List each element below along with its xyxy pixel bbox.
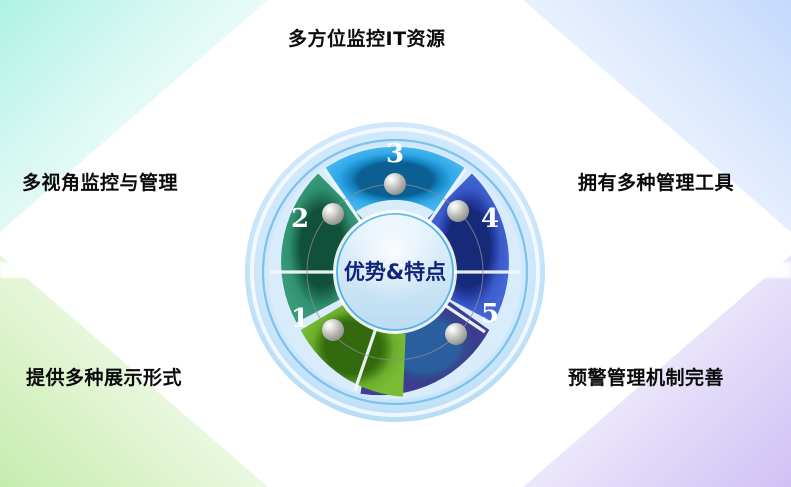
label-left-top: 多视角监控与管理 <box>22 168 178 195</box>
marker-ball-4[interactable] <box>447 200 469 222</box>
segment-number-5: 5 <box>481 299 499 329</box>
segment-number-4: 4 <box>481 204 499 234</box>
marker-ball-5[interactable] <box>445 323 467 345</box>
segment-number-1: 1 <box>291 304 309 334</box>
segment-number-3: 3 <box>386 139 404 169</box>
center-label: 优势&特点 <box>344 260 446 284</box>
donut-wheel: 优势&特点 3 4 5 2 1 <box>245 122 545 422</box>
marker-ball-3[interactable] <box>384 173 406 195</box>
marker-ball-1[interactable] <box>322 319 344 341</box>
label-right-bottom: 预警管理机制完善 <box>568 363 724 390</box>
label-right-top: 拥有多种管理工具 <box>578 168 734 195</box>
marker-ball-2[interactable] <box>322 203 344 225</box>
label-top: 多方位监控IT资源 <box>288 24 446 51</box>
diagram-canvas: 优势&特点 3 4 5 2 1 多方位监控IT资源 多视角监控与管理 提供多种展… <box>0 0 791 487</box>
segment-number-2: 2 <box>291 204 309 234</box>
label-left-bottom: 提供多种展示形式 <box>26 363 182 390</box>
